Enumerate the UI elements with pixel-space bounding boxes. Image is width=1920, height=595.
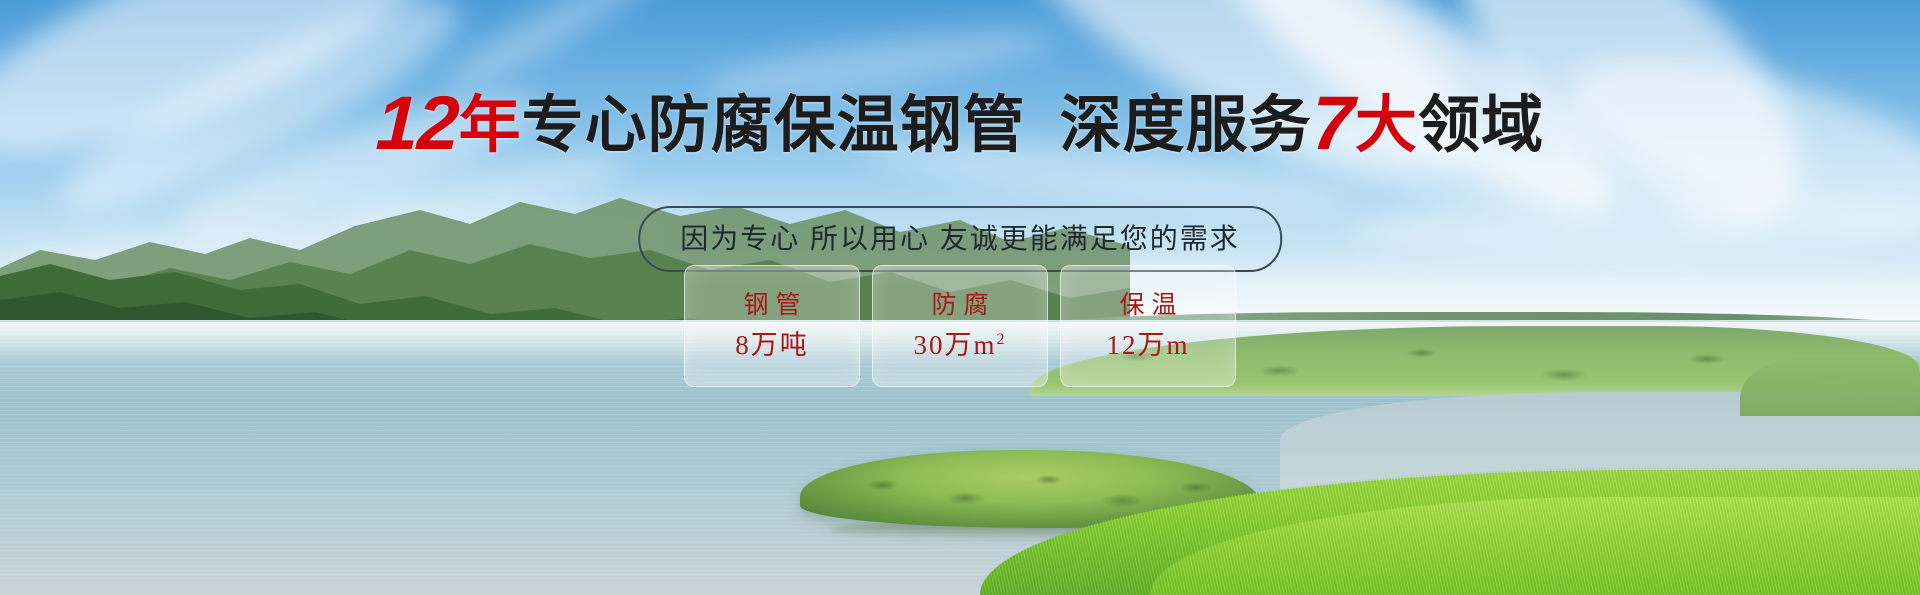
promo-banner: 12年专心防腐保温钢管深度服务7大领域 因为专心 所以用心 友诚更能满足您的需求… (0, 0, 1920, 595)
headline-segment-1: 专心防腐保温钢管 (522, 91, 1026, 160)
stat-card-value-text: 12万m (1106, 330, 1189, 360)
stat-card-group: 钢管 8万吨 防腐 30万m2 保温 12万m (684, 265, 1236, 387)
headline-years-number: 12 (375, 86, 460, 162)
headline-segment-3: 领域 (1418, 91, 1544, 160)
stat-card-value: 30万m2 (913, 332, 1006, 359)
headline-highlight-number: 7 (1310, 86, 1356, 162)
stat-card-anticorrosion: 防腐 30万m2 (872, 265, 1048, 387)
tagline-pill: 因为专心 所以用心 友诚更能满足您的需求 (638, 206, 1282, 272)
stat-card-value-text: 8万吨 (735, 330, 809, 360)
stat-card-steel-pipe: 钢管 8万吨 (684, 265, 860, 387)
stat-card-value: 8万吨 (735, 332, 809, 359)
stat-card-value: 12万m (1106, 332, 1189, 359)
stat-card-value-superscript: 2 (997, 331, 1007, 348)
stat-card-value-text: 30万m (913, 330, 996, 360)
headline-years-unit: 年 (459, 91, 522, 160)
headline-segment-2: 深度服务 (1060, 91, 1312, 160)
stat-card-title: 钢管 (736, 293, 807, 318)
banner-headline: 12年专心防腐保温钢管深度服务7大领域 (0, 86, 1920, 162)
stat-card-title: 保温 (1112, 293, 1183, 318)
headline-highlight-unit: 大 (1355, 91, 1418, 160)
stat-card-title: 防腐 (924, 293, 995, 318)
stat-card-insulation: 保温 12万m (1060, 265, 1236, 387)
banner-content: 12年专心防腐保温钢管深度服务7大领域 因为专心 所以用心 友诚更能满足您的需求… (0, 0, 1920, 595)
